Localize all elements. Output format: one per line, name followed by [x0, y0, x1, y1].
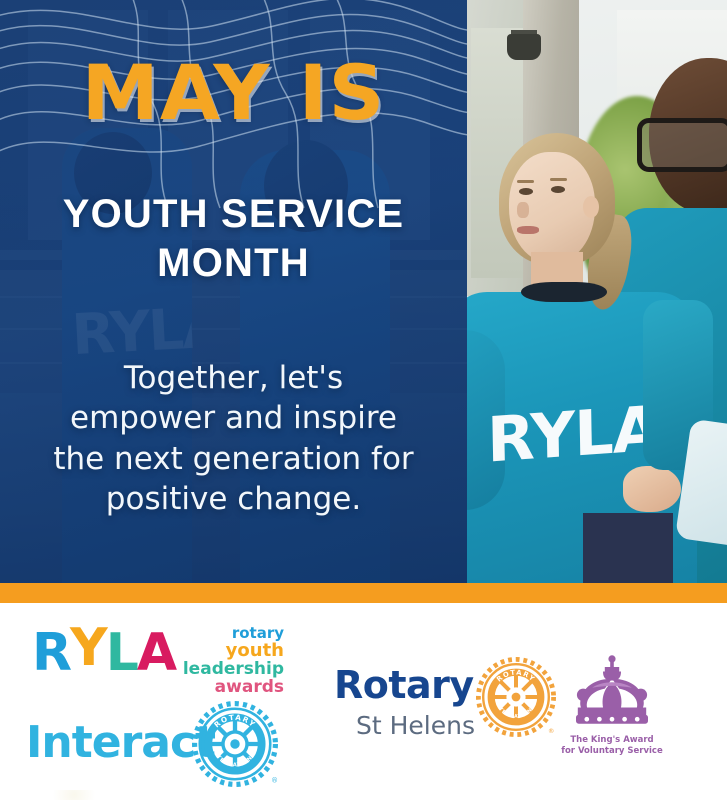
- rotary-st-helens-logo: Rotary St Helens: [334, 663, 564, 743]
- kings-award-line2: for Voluntary Service: [552, 746, 672, 757]
- ryla-letter-r: R: [32, 627, 70, 679]
- photo-person-girl-ear: [583, 196, 599, 218]
- headline-main: YOUTH SERVICE MONTH: [0, 190, 467, 288]
- interact-logo: Interact: [26, 701, 276, 779]
- photo-girl-brow-right: [550, 178, 567, 181]
- tagline-line-3: the next generation for: [32, 439, 435, 479]
- ryla-letter-y: Y: [70, 622, 106, 674]
- headline-main-line1: YOUTH SERVICE: [0, 190, 467, 239]
- headline-main-line2: MONTH: [0, 239, 467, 288]
- rotary-wheel-icon-cyan: ROTARY INTERNATIONAL ®: [192, 701, 278, 787]
- photo-girl-eye-right: [551, 186, 565, 193]
- hero-photo-right: RYLA: [465, 0, 727, 583]
- kings-award-caption: The King's Award for Voluntary Service: [552, 735, 672, 758]
- hero-section: RYLA: [0, 0, 727, 583]
- ryla-subtext: rotary youth leadership awards: [164, 625, 284, 697]
- photo-girl-collar: [521, 282, 607, 302]
- ryla-sub-rotary: rotary: [164, 625, 284, 641]
- ryla-sub-awards: awards: [164, 678, 284, 696]
- tagline: Together, let's empower and inspire the …: [32, 358, 435, 519]
- photo-person-girl-hand: [623, 466, 681, 512]
- photo-girl-eye-left: [519, 188, 533, 195]
- photo-person-girl-shorts: [583, 513, 673, 583]
- poster-canvas: RYLA: [0, 0, 727, 800]
- ryla-wordmark: RYLA: [32, 627, 175, 679]
- photo-girl-mouth: [517, 226, 539, 234]
- photo-wall-lamp: [507, 34, 541, 60]
- photo-shirt-ryla-text: RYLA: [487, 392, 648, 479]
- rotary-wordmark: Rotary: [334, 663, 474, 707]
- crown-icon: [558, 655, 666, 733]
- rotary-wheel-icon-gold: ROTARY INTERNATIONAL ®: [476, 657, 556, 737]
- ryla-letter-l: L: [106, 627, 137, 679]
- hero-text-block: MAY IS YOUTH SERVICE MONTH Together, let…: [0, 0, 467, 583]
- rotary-club-name: St Helens: [356, 711, 475, 740]
- hero-left-panel: RYLA: [0, 0, 467, 583]
- tagline-line-1: Together, let's: [32, 358, 435, 398]
- orange-divider-band: [0, 583, 727, 603]
- headline-accent: MAY IS: [0, 56, 467, 130]
- ryla-logo: RYLA rotary youth leadership awards: [32, 625, 282, 687]
- footer-partial-graphic: [44, 790, 104, 800]
- interact-wordmark: Interact: [26, 717, 215, 768]
- ryla-sub-leadership: leadership: [164, 660, 284, 678]
- tagline-line-2: empower and inspire: [32, 398, 435, 438]
- svg-text:®: ®: [271, 777, 278, 785]
- photo-girl-brow-left: [517, 180, 534, 183]
- kings-award-line1: The King's Award: [552, 735, 672, 746]
- tagline-line-4: positive change.: [32, 479, 435, 519]
- photo-girl-nose: [517, 202, 529, 218]
- kings-award-logo: The King's Award for Voluntary Service: [552, 655, 672, 775]
- photo-person-boy-glasses: [637, 118, 727, 172]
- logo-footer: RYLA rotary youth leadership awards Inte…: [0, 603, 727, 800]
- ryla-sub-youth: youth: [164, 641, 284, 660]
